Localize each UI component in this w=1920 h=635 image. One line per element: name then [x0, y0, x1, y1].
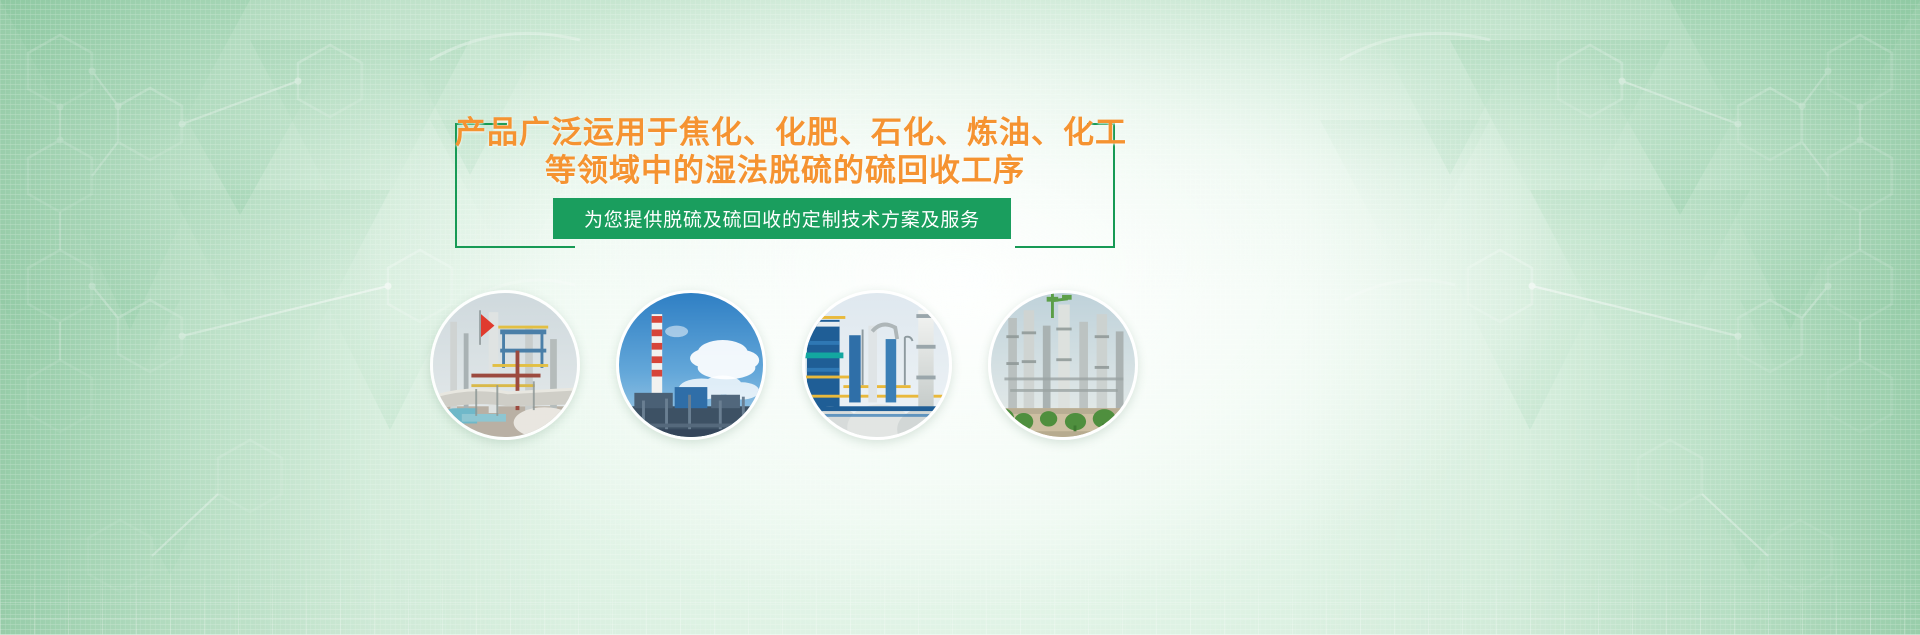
photo-circle-refinery-piping-plant: [430, 290, 580, 440]
photo-circle-smokestack-blue-sky-plant: [616, 290, 766, 440]
headline-line-1: 产品广泛运用于焦化、化肥、石化、炼油、化工: [455, 114, 1115, 152]
photo-circle-row: [0, 290, 1920, 440]
headline-line-2: 等领域中的湿法脱硫的硫回收工序: [455, 152, 1115, 190]
bracket-bottom-left-segment: [455, 246, 575, 248]
photo-circle-distillation-towers-plant: [988, 290, 1138, 440]
hero-banner: 产品广泛运用于焦化、化肥、石化、炼油、化工 等领域中的湿法脱硫的硫回收工序 为您…: [0, 0, 1920, 635]
subheadline-text: 为您提供脱硫及硫回收的定制技术方案及服务: [584, 205, 980, 232]
photo-circle-blue-gas-storage-tanks: [802, 290, 952, 440]
subheadline-banner: 为您提供脱硫及硫回收的定制技术方案及服务: [553, 198, 1011, 239]
bracket-bottom-right-segment: [1015, 246, 1115, 248]
